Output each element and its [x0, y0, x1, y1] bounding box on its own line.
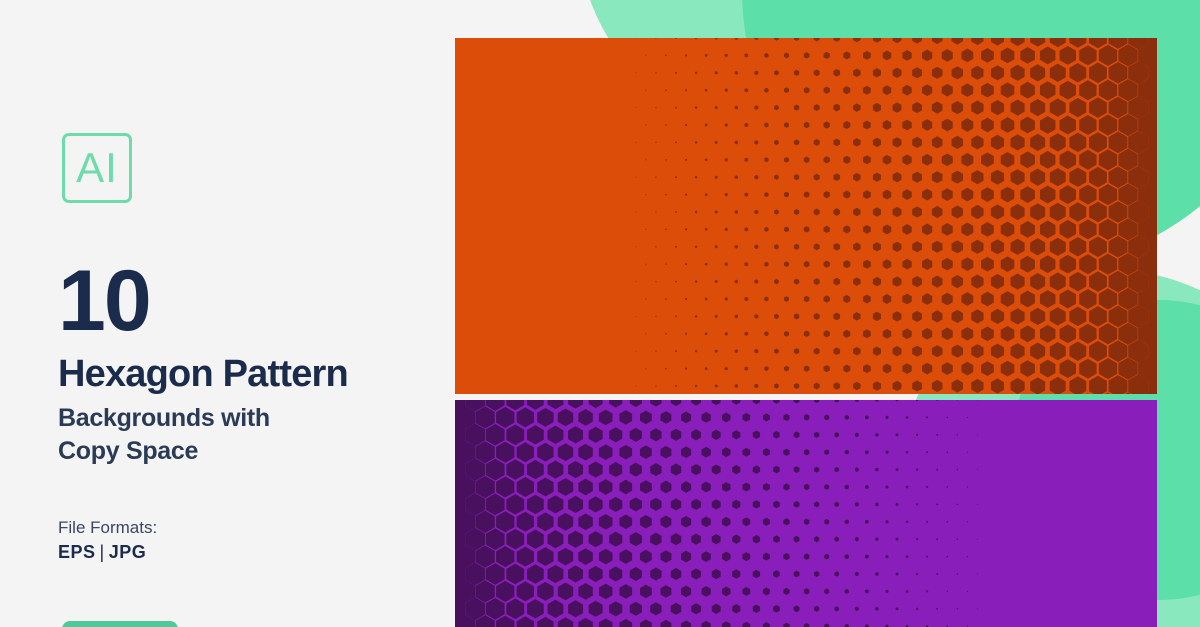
- promo-canvas: AI 10 Hexagon Pattern Backgrounds with C…: [0, 0, 1200, 627]
- format-separator: |: [96, 542, 109, 562]
- info-column: AI 10 Hexagon Pattern Backgrounds with C…: [0, 0, 455, 627]
- format-jpg: JPG: [109, 542, 147, 562]
- subtitle-line-1: Backgrounds with: [58, 402, 438, 435]
- purple-halftone-layer: [455, 400, 1157, 627]
- format-eps: EPS: [58, 542, 96, 562]
- adobe-illustrator-badge-icon: AI: [62, 133, 132, 203]
- page-title: Hexagon Pattern: [58, 355, 348, 395]
- preview-orange-hexagon-pattern[interactable]: [455, 38, 1157, 394]
- cta-button[interactable]: [62, 621, 178, 627]
- file-formats-value: EPS|JPG: [58, 542, 146, 563]
- orange-halftone-layer: [455, 38, 1157, 394]
- subtitle-line-2: Copy Space: [58, 435, 438, 468]
- file-formats-label: File Formats:: [58, 518, 157, 538]
- badge-label: AI: [76, 147, 118, 189]
- page-subtitle: Backgrounds with Copy Space: [58, 402, 438, 468]
- preview-purple-hexagon-pattern[interactable]: [455, 400, 1157, 627]
- item-count: 10: [58, 258, 150, 344]
